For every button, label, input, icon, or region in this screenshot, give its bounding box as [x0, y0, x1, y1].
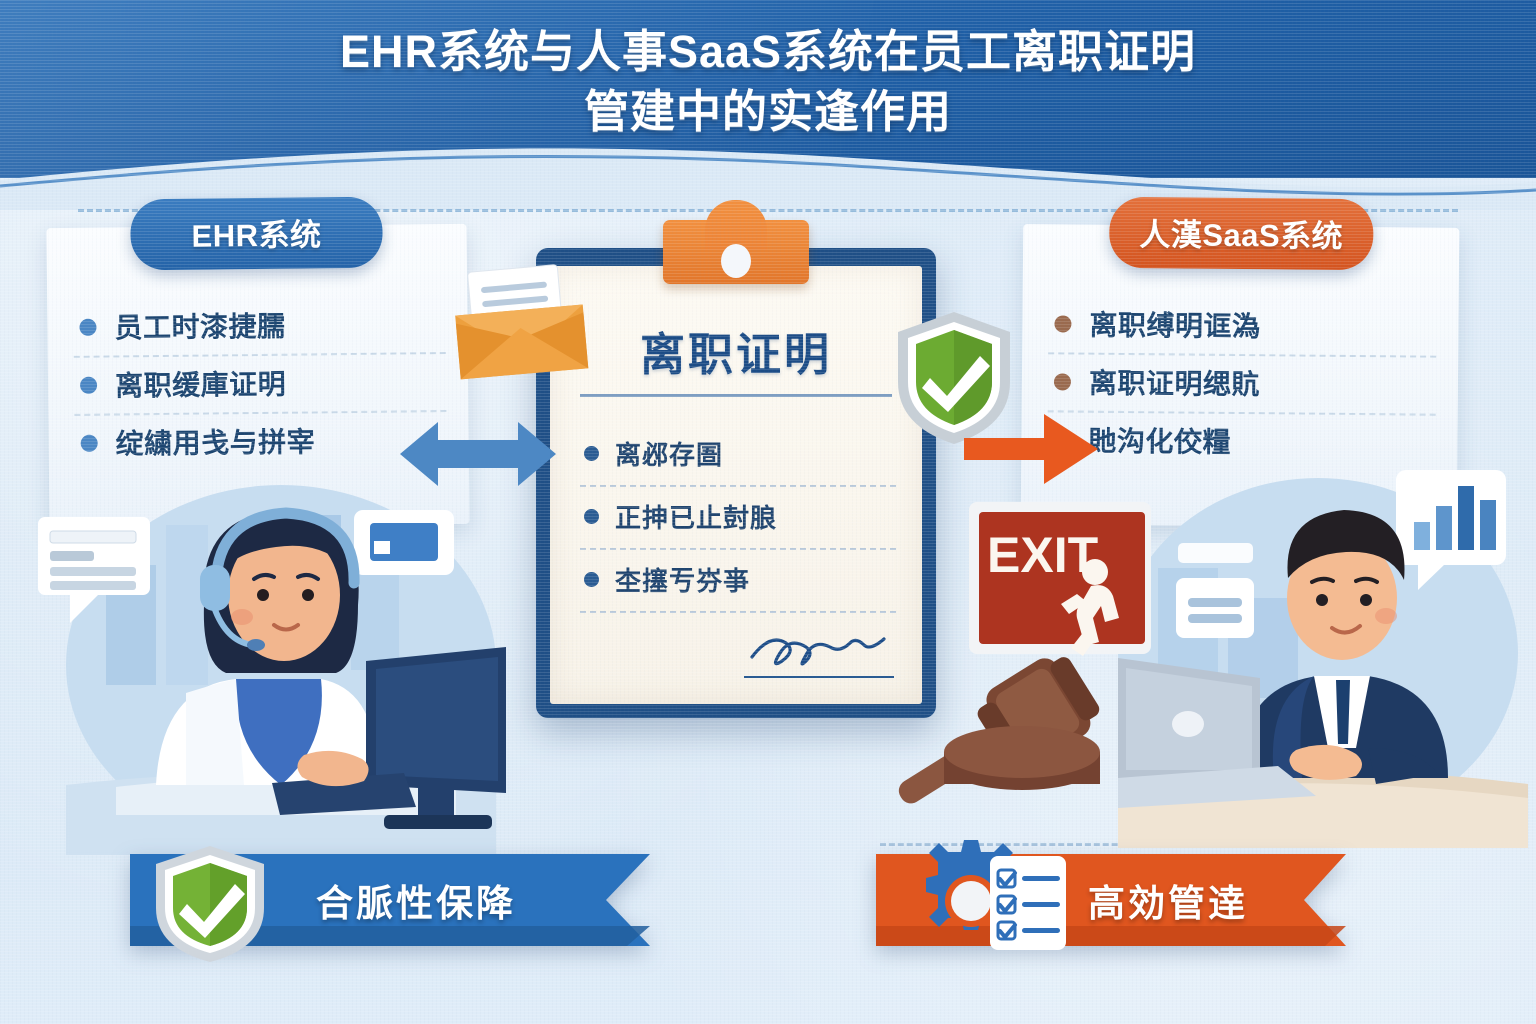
envelope-icon [450, 262, 590, 382]
exit-sign-label: EXIT [987, 527, 1098, 583]
bullet-dot-icon [584, 509, 599, 524]
gear-checklist-icon [886, 838, 1076, 964]
list-item: 杢㩙亐㞣亊 [580, 550, 896, 613]
compliance-ribbon: 合脈性保降 [130, 854, 650, 946]
bullet-dot-icon [1054, 373, 1071, 390]
list-item: 离职缚明诓溈 [1048, 296, 1436, 357]
checklist-icon [990, 856, 1066, 950]
list-item: 离职缓庫证明 [74, 354, 447, 416]
page-title: EHR系统与人事SaaS系统在员工离职证明 管建中的实逢作用 [0, 22, 1536, 143]
list-item-label: 离职缓庫证明 [115, 363, 286, 405]
left-panel-badge: EHR系统 [130, 197, 383, 271]
list-item-label: 员工时漆捷臑 [114, 305, 285, 347]
bullet-dot-icon [584, 572, 599, 587]
certificate-bullets: 离邲存圄 正抻已止尌朖 杢㩙亐㞣亊 [580, 424, 896, 613]
bullet-dot-icon [1054, 315, 1071, 332]
list-item-label: 正抻已止尌朖 [615, 498, 777, 535]
bullet-dot-icon [584, 446, 599, 461]
certificate-rule [580, 394, 892, 397]
title-line-1: EHR系统与人事SaaS系统在员工离职证明 [0, 22, 1536, 82]
title-line-2: 管建中的实逢作用 [0, 82, 1536, 142]
signature-icon [744, 623, 894, 669]
shield-check-icon [150, 842, 270, 964]
list-item-label: 离职缚明诓溈 [1089, 304, 1260, 345]
list-item: 员工时漆捷臑 [73, 296, 446, 358]
infographic-canvas: EHR系统与人事SaaS系统在员工离职证明 管建中的实逢作用 [0, 0, 1536, 1024]
compliance-ribbon-label: 合脈性保降 [316, 873, 516, 927]
bullet-dot-icon [81, 434, 98, 451]
efficiency-ribbon-label: 高効管逹 [1088, 873, 1248, 927]
list-item-label: 离邲存圄 [615, 435, 723, 472]
bullet-dot-icon [79, 318, 96, 335]
list-item: 离邲存圄 [580, 424, 896, 487]
double-arrow-icon [398, 412, 558, 496]
list-item-label: 离职证明缌貥 [1089, 362, 1260, 403]
gavel-icon [890, 630, 1140, 820]
clipboard-clip-hole [721, 244, 751, 278]
list-item: 正抻已止尌朖 [580, 487, 896, 550]
certificate-title: 离职证明 [550, 318, 922, 383]
bullet-dot-icon [80, 376, 97, 393]
right-illustration [1118, 448, 1528, 848]
left-panel-bullets: 员工时漆捷臑 离职缓庫证明 绽繍用戋与拼宰 [73, 296, 447, 472]
right-panel-badge: 人漢SaaS系统 [1109, 197, 1373, 270]
list-item: 离职证明缌貥 [1048, 354, 1436, 415]
left-illustration [36, 455, 506, 855]
arrow-right-icon [962, 404, 1102, 490]
leaving-certificate-clipboard: 离职证明 离邲存圄 正抻已止尌朖 杢㩙亐㞣亊 [536, 248, 936, 718]
signature-block [744, 623, 894, 678]
right-panel-bullets: 离职缚明诓溈 离职证明缌貥 貤沟化佼糧 [1047, 296, 1436, 471]
signature-line [744, 676, 894, 678]
certificate-paper: 离职证明 离邲存圄 正抻已止尌朖 杢㩙亐㞣亊 [550, 266, 922, 704]
efficiency-ribbon: 高効管逹 [876, 854, 1346, 946]
list-item-label: 杢㩙亐㞣亊 [615, 561, 750, 598]
